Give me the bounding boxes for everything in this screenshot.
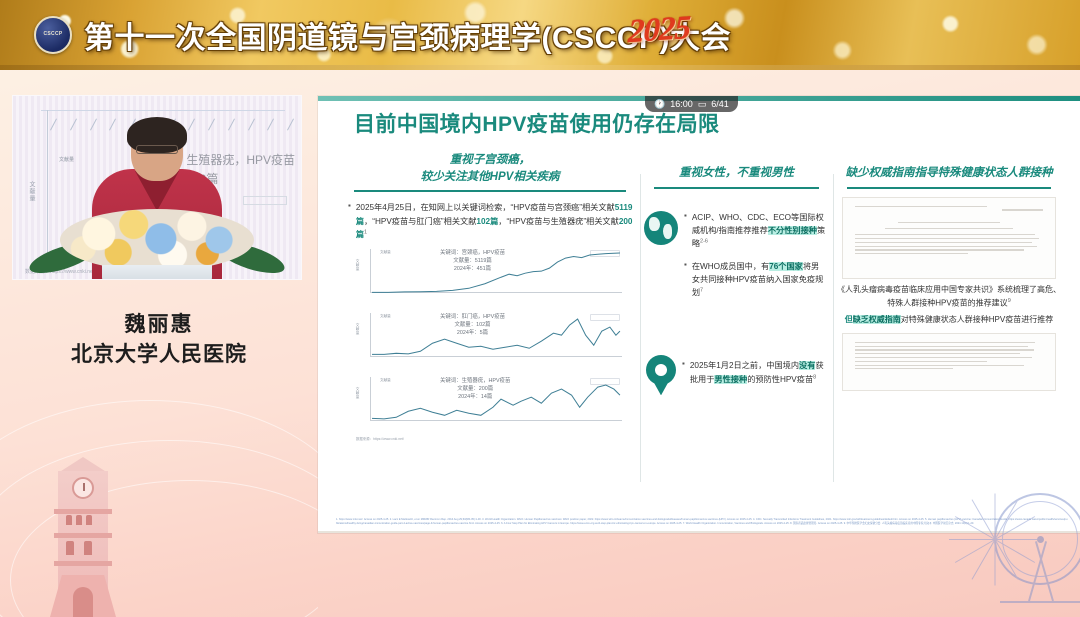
event-banner: CSCCP 第十一次全国阴道镜与宫颈病理学(CSCCP)大会 2025 <box>0 0 1080 70</box>
ferris-spoke <box>995 494 996 540</box>
chart-3-ylabel: 文献量 <box>356 387 361 399</box>
ferris-ground <box>1000 601 1080 603</box>
chart-2-ylabel: 文献量 <box>356 323 361 335</box>
bullet-dot-icon: ▪ <box>348 201 351 241</box>
speaker-glasses <box>136 145 178 154</box>
document-text-lines <box>855 206 1043 257</box>
slide-column-left: 重视子宫颈癌， 较少关注其他HPV相关疾病 ▪ 2025年4月25日，在知网上以… <box>340 152 640 482</box>
page-icon: ▭ <box>698 100 707 109</box>
tower-band-2 <box>54 533 112 538</box>
slide-column-right: 缺少权威指南指导特殊健康状态人群接种 《人乳头瘤病毒疫苗临床应用中国专家共识》系… <box>833 152 1065 482</box>
c1-value-2: 102篇 <box>476 217 498 226</box>
column-3-rule <box>847 187 1051 189</box>
column-3-text-1: 《人乳头瘤病毒疫苗临床应用中国专家共识》系统梳理了高危、特殊人群接种HPV疫苗的… <box>833 284 1065 311</box>
c2b3-sup: 8 <box>813 374 816 380</box>
column-2-bullet-1-text: ACIP、WHO、CDC、ECO等国际权威机构/指南推荐推荐不分性别接种策略2-… <box>692 211 827 251</box>
speaker-organization: 北京大学人民医院 <box>0 338 318 368</box>
c2b2-pre: 在WHO成员国中，有 <box>692 262 769 271</box>
column-1-heading-line2: 较少关注其他HPV相关疾病 <box>346 169 634 186</box>
c1-mid-1: ，“HPV疫苗与肛门癌”相关文献 <box>364 217 476 226</box>
ferris-wheel-illustration <box>970 501 1080 611</box>
column-2-bullet-3: ▪ 2025年1月2日之前，中国境内没有获批用于男性接种的预防性HPV疫苗8 <box>682 359 827 386</box>
tower-band-1 <box>54 509 112 514</box>
column-2-bullet-1: ▪ ACIP、WHO、CDC、ECO等国际权威机构/指南推荐推荐不分性别接种策略… <box>684 211 827 251</box>
consensus-document-scan <box>842 197 1056 279</box>
c1-pre: 2025年4月25日，在知网上以关键词检索，“HPV疫苗与宫颈癌”相关文献 <box>356 203 615 212</box>
column-separator-1 <box>640 174 641 482</box>
column-2-bullet-2: ▪ 在WHO成员国中，有76个国家将男女共同接种HPV疫苗纳入国家免疫规划7 <box>684 260 827 300</box>
presentation-slide[interactable]: 目前中国境内HPV疫苗使用仍存在局限 重视子宫颈癌， 较少关注其他HPV相关疾病… <box>318 96 1080 533</box>
chart-1-xticks <box>374 294 622 305</box>
slide-column-middle: 重视女性，不重视男性 ▪ ACIP、WHO、CDC、ECO等国际权威机构/指南推… <box>640 152 833 482</box>
column-2-heading: 重视女性，不重视男性 <box>640 151 833 182</box>
chart-1-ylabel: 文献量 <box>356 259 361 271</box>
column-3-heading-line1: 缺少权威指南指导特殊健康状态人群接种 <box>839 165 1059 182</box>
column-1-bullet-text: 2025年4月25日，在知网上以关键词检索，“HPV疫苗与宫颈癌”相关文献511… <box>356 201 634 241</box>
slide-title: 目前中国境内HPV疫苗使用仍存在局限 <box>354 108 719 138</box>
playback-badge: 🕐 16:00 ▭ 6/41 <box>645 96 738 112</box>
column-2-bullet-2-text: 在WHO成员国中，有76个国家将男女共同接种HPV疫苗纳入国家免疫规划7 <box>692 260 827 300</box>
banner-year: 2025 <box>627 10 690 52</box>
c2b3-hl: 没有 <box>799 361 815 370</box>
column-2-rule <box>654 187 819 189</box>
column-2-group-1: ▪ ACIP、WHO、CDC、ECO等国际权威机构/指南推荐推荐不分性别接种策略… <box>640 211 833 300</box>
pin-icon <box>646 355 676 395</box>
column-1-rule <box>354 190 626 192</box>
c3t1-sup: 9 <box>1008 298 1011 304</box>
ferris-hub <box>1037 536 1044 543</box>
chart-source-note: 数据来源：https://www.cnki.net/ <box>356 436 640 441</box>
c2b2-hl: 76个国家 <box>769 262 803 271</box>
tower-window-3 <box>86 515 92 525</box>
chart-2-line <box>370 313 622 357</box>
c3t2-post: 对特殊健康状态人群接种HPV疫苗进行推荐 <box>901 315 1053 324</box>
speaker-figure <box>42 119 272 279</box>
bullet-dot-icon: ▪ <box>684 211 687 251</box>
bullet-dot-icon: ▪ <box>684 260 687 300</box>
tower-arch <box>73 587 93 617</box>
c1-mid-2: ，“HPV疫苗与生殖器疣”相关文献 <box>498 217 619 226</box>
column-2-heading-line1: 重视女性，不重视男性 <box>646 165 827 182</box>
column-2-bullet-3-text: 2025年1月2日之前，中国境内没有获批用于男性接种的预防性HPV疫苗8 <box>690 359 827 386</box>
column-1-heading-line1: 重视子宫颈癌， <box>346 152 634 169</box>
playback-page: 6/41 <box>711 99 729 109</box>
c2b3-hl2: 男性接种 <box>714 375 747 384</box>
slide-columns: 重视子宫颈癌， 较少关注其他HPV相关疾病 ▪ 2025年4月25日，在知网上以… <box>340 152 1066 482</box>
c2b3-post: 的预防性HPV疫苗 <box>747 375 813 384</box>
slide-bottom-rule <box>318 531 1080 533</box>
document-text-lines-lower <box>855 342 1043 372</box>
chart-genital-warts: 文献量 文献量 关键词：生殖器疣，HPV疫苗 文献量：200篇 2024年：14… <box>354 375 624 433</box>
c2b2-sup: 7 <box>700 287 703 293</box>
column-separator-2 <box>833 174 834 482</box>
playback-time: 16:00 <box>670 99 693 109</box>
chart-anal-cancer: 文献量 文献量 关键词：肛门癌，HPV疫苗 文献量：102篇 2024年：5篇 <box>354 311 624 369</box>
tower-window-4 <box>66 541 74 555</box>
chart-2-xticks <box>374 358 622 369</box>
chart-cervical-cancer: 文献量 文献量 关键词：宫颈癌，HPV疫苗 文献量：5119篇 2024年：45… <box>354 247 624 305</box>
tower-window-2 <box>76 515 82 525</box>
column-2-group-2: ▪ 2025年1月2日之前，中国境内没有获批用于男性接种的预防性HPV疫苗8 <box>640 355 833 395</box>
ferris-spoke <box>955 539 995 563</box>
ferris-spoke <box>995 540 996 586</box>
pin-tip <box>651 377 671 395</box>
c2b1-hl: 不分性别接种 <box>768 226 817 235</box>
tower-window-5 <box>84 541 92 555</box>
clock-tower-illustration <box>50 457 116 617</box>
tower-clock-icon <box>72 477 94 499</box>
tower-window-1 <box>66 515 72 525</box>
flower-vase <box>102 265 212 280</box>
c3t2-hl: 缺乏权威指南 <box>853 315 901 324</box>
column-1-heading: 重视子宫颈癌， 较少关注其他HPV相关疾病 <box>340 152 640 185</box>
chart-3-line <box>370 377 622 421</box>
c3t2-pre: 但 <box>845 315 853 324</box>
emblem-label: CSCCP <box>43 32 62 38</box>
c1-sup: 1 <box>364 229 367 235</box>
consensus-document-scan-lower <box>842 333 1056 391</box>
video-slide-topline <box>41 110 285 111</box>
tower-band-3 <box>54 561 112 566</box>
column-3-text-2: 但缺乏权威指南对特殊健康状态人群接种HPV疫苗进行推荐 <box>833 313 1065 327</box>
clock-icon: 🕐 <box>654 100 665 109</box>
podium-flowers <box>32 193 282 280</box>
speaker-video[interactable]: 文献量 文献量 关键词：生殖器疣，HPV疫苗 文献量：200篇 2024年：14… <box>12 95 302 280</box>
c2b3-pre: 2025年1月2日之前，中国境内 <box>690 361 799 370</box>
ferris-spoke <box>949 539 995 540</box>
chart-3-xticks <box>374 422 622 433</box>
column-1-bullet: ▪ 2025年4月25日，在知网上以关键词检索，“HPV疫苗与宫颈癌”相关文献5… <box>348 201 634 241</box>
c3t1: 《人乳头瘤病毒疫苗临床应用中国专家共识》系统梳理了高危、特殊人群接种HPV疫苗的… <box>837 285 1061 308</box>
ferris-spoke <box>995 539 1041 540</box>
speaker-pane: 文献量 文献量 关键词：生殖器疣，HPV疫苗 文献量：200篇 2024年：14… <box>0 70 318 617</box>
globe-icon <box>644 211 678 245</box>
csccp-emblem-icon: CSCCP <box>34 16 72 54</box>
flower-bouquet <box>60 209 254 271</box>
speaker-name: 魏丽惠 <box>0 308 318 338</box>
c2b1-sup: 2-6 <box>700 239 708 245</box>
bullet-dot-icon: ▪ <box>682 359 685 386</box>
column-3-heading: 缺少权威指南指导特殊健康状态人群接种 <box>833 151 1065 182</box>
chart-1-line <box>370 249 622 293</box>
page-root: CSCCP 第十一次全国阴道镜与宫颈病理学(CSCCP)大会 2025 文献量 … <box>0 0 1080 617</box>
